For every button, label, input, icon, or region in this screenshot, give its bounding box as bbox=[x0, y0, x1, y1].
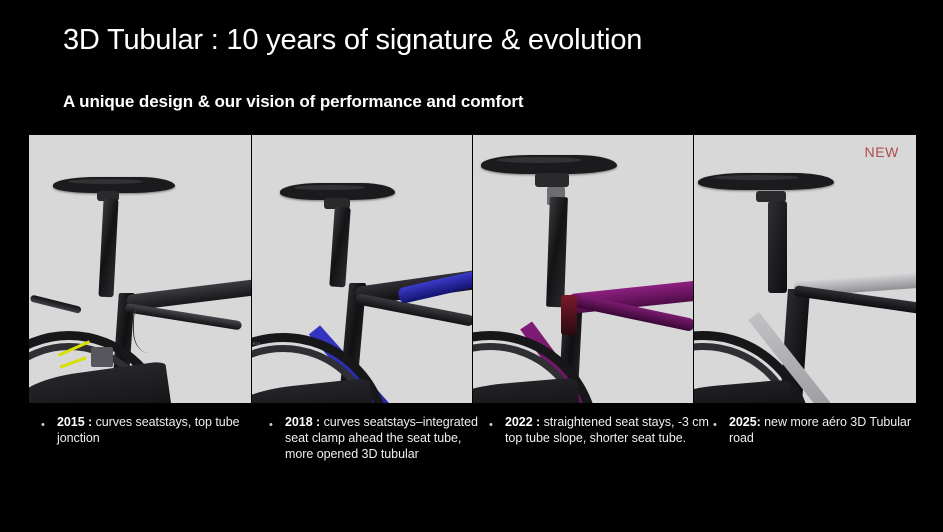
bullet-icon: • bbox=[713, 414, 729, 431]
caption-2025: • 2025: new more aéro 3D Tubular road bbox=[713, 414, 938, 446]
panel-2022[interactable]: 700x28C TUBELESS bbox=[473, 135, 693, 403]
caption-2025-year: 2025: bbox=[729, 415, 761, 429]
bike-image-2022: 700x28C TUBELESS bbox=[473, 135, 693, 403]
image-strip: CONTINENTAL GRAND PRIX 28mm 700x28C bbox=[29, 135, 917, 403]
caption-2022-year: 2022 : bbox=[505, 415, 540, 429]
status-badge-new: NEW bbox=[865, 144, 899, 160]
caption-2022: • 2022 : straightened seat stays, -3 cm … bbox=[489, 414, 714, 446]
bike-image-2015 bbox=[29, 135, 251, 403]
bike-image-2018: CONTINENTAL GRAND PRIX 28mm 700x28C bbox=[252, 135, 472, 403]
caption-2022-text: 2022 : straightened seat stays, -3 cm to… bbox=[505, 414, 714, 446]
page-subtitle: A unique design & our vision of performa… bbox=[63, 92, 523, 112]
slide-root: 3D Tubular : 10 years of signature & evo… bbox=[0, 0, 943, 532]
caption-2018-year: 2018 : bbox=[285, 415, 320, 429]
panel-2025[interactable]: NEW CYCLE 28 bbox=[694, 135, 916, 403]
caption-2015: • 2015 : curves seatstays, top tube jonc… bbox=[41, 414, 266, 446]
caption-2018-text: 2018 : curves seatstays–integrated seat … bbox=[285, 414, 491, 462]
caption-2015-text: 2015 : curves seatstays, top tube joncti… bbox=[57, 414, 266, 446]
caption-row: • 2015 : curves seatstays, top tube jonc… bbox=[29, 414, 934, 524]
panel-2015[interactable] bbox=[29, 135, 251, 403]
caption-2018: • 2018 : curves seatstays–integrated sea… bbox=[269, 414, 491, 462]
bullet-icon: • bbox=[41, 414, 57, 431]
bullet-icon: • bbox=[269, 414, 285, 431]
bullet-icon: • bbox=[489, 414, 505, 431]
page-title: 3D Tubular : 10 years of signature & evo… bbox=[63, 24, 642, 57]
panel-2018[interactable]: CONTINENTAL GRAND PRIX 28mm 700x28C bbox=[252, 135, 472, 403]
bike-image-2025: CYCLE 28 bbox=[694, 135, 916, 403]
caption-2015-year: 2015 : bbox=[57, 415, 92, 429]
caption-2025-text: 2025: new more aéro 3D Tubular road bbox=[729, 414, 938, 446]
